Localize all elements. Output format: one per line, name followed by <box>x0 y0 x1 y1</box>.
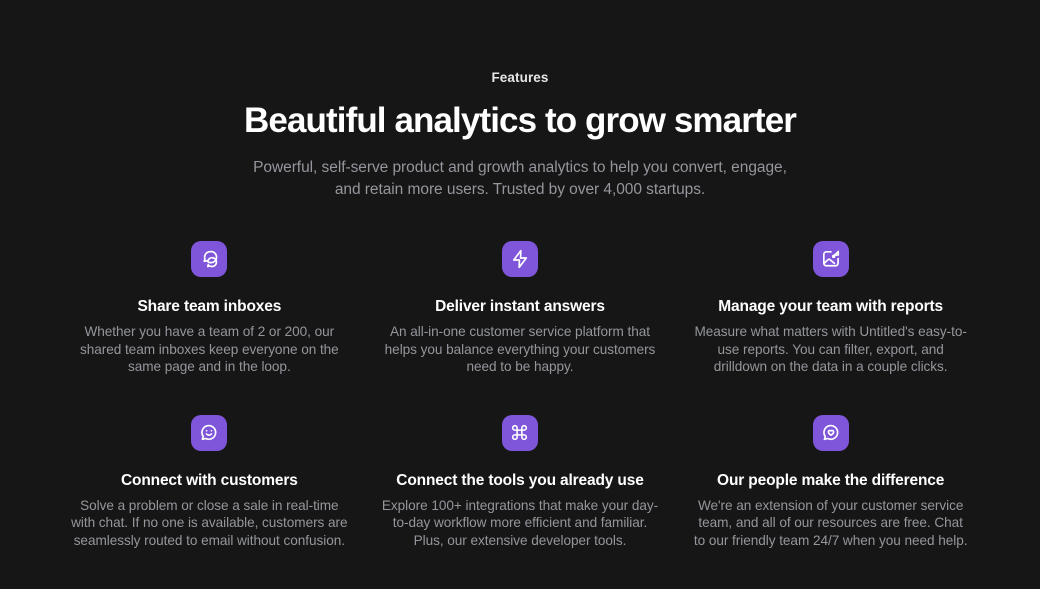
feature-card: Connect the tools you already use Explor… <box>381 415 660 550</box>
feature-title: Share team inboxes <box>137 296 281 317</box>
feature-body: An all-in-one customer service platform … <box>381 323 660 376</box>
page-title: Beautiful analytics to grow smarter <box>0 99 1040 143</box>
section-header: Features Beautiful analytics to grow sma… <box>0 0 1040 200</box>
feature-card: Manage your team with reports Measure wh… <box>691 241 970 376</box>
feature-title: Connect with customers <box>121 470 298 491</box>
feature-card: Deliver instant answers An all-in-one cu… <box>381 241 660 376</box>
command-key-icon <box>502 415 538 451</box>
feature-body: We're an extension of your customer serv… <box>691 497 970 550</box>
feature-card: Connect with customers Solve a problem o… <box>70 415 349 550</box>
lightning-bolt-icon <box>502 241 538 277</box>
feature-body: Solve a problem or close a sale in real-… <box>70 497 349 550</box>
feature-title: Our people make the difference <box>717 470 944 491</box>
message-chat-bubbles-icon <box>191 241 227 277</box>
feature-title: Deliver instant answers <box>435 296 605 317</box>
feature-body: Whether you have a team of 2 or 200, our… <box>70 323 349 376</box>
feature-body: Explore 100+ integrations that make your… <box>381 497 660 550</box>
section-subtitle: Powerful, self-serve product and growth … <box>240 157 800 200</box>
feature-card: Share team inboxes Whether you have a te… <box>70 241 349 376</box>
message-heart-icon <box>813 415 849 451</box>
feature-title: Manage your team with reports <box>718 296 943 317</box>
feature-card: Our people make the difference We're an … <box>691 415 970 550</box>
feature-body: Measure what matters with Untitled's eas… <box>691 323 970 376</box>
image-chart-export-icon <box>813 241 849 277</box>
features-section: Features Beautiful analytics to grow sma… <box>0 0 1040 589</box>
eyebrow-label: Features <box>0 68 1040 88</box>
feature-grid: Share team inboxes Whether you have a te… <box>70 241 970 550</box>
message-smile-icon <box>191 415 227 451</box>
feature-title: Connect the tools you already use <box>396 470 643 491</box>
